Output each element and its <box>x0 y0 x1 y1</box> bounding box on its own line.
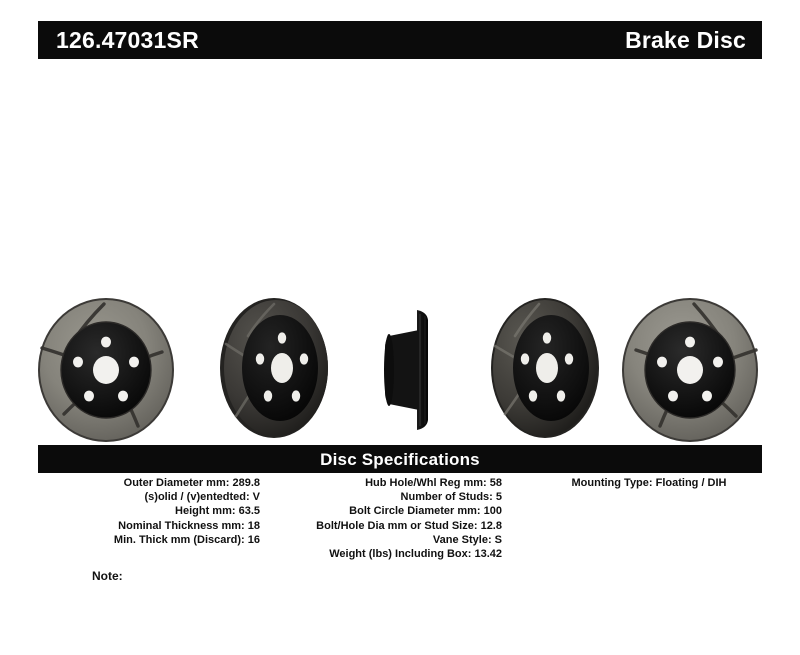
specifications-table: Outer Diameter mm: 289.8 (s)olid / (v)en… <box>38 476 762 576</box>
note-label: Note: <box>92 569 123 583</box>
spec-row: Bolt/Hole Dia mm or Stud Size: 12.8 <box>270 519 502 533</box>
spec-row: Mounting Type: Floating / DIH <box>536 476 762 490</box>
spec-row: Vane Style: S <box>270 533 502 547</box>
spec-row: Height mm: 63.5 <box>38 504 260 518</box>
spec-row: Hub Hole/Whl Reg mm: 58 <box>270 476 502 490</box>
spec-row: (s)olid / (v)entedted: V <box>38 490 260 504</box>
spec-column-left: Outer Diameter mm: 289.8 (s)olid / (v)en… <box>38 476 260 547</box>
spec-row: Bolt Circle Diameter mm: 100 <box>270 504 502 518</box>
spec-row: Min. Thick mm (Discard): 16 <box>38 533 260 547</box>
note-field: Note: <box>92 570 123 582</box>
spec-row: Number of Studs: 5 <box>270 490 502 504</box>
spec-row: Weight (lbs) Including Box: 13.42 <box>270 547 502 561</box>
rotor-angled-right <box>483 296 615 444</box>
product-image-strip <box>30 296 770 444</box>
header-bar: 126.47031SR Brake Disc <box>38 21 762 59</box>
rotor-edge-profile <box>375 296 441 444</box>
spec-row: Nominal Thickness mm: 18 <box>38 519 260 533</box>
disc-specifications-title: Disc Specifications <box>320 451 480 468</box>
rotor-angled-left <box>208 296 340 444</box>
spec-sheet: 126.47031SR Brake Disc <box>0 0 800 655</box>
rotor-face-front-right <box>610 296 770 444</box>
spec-row: Outer Diameter mm: 289.8 <box>38 476 260 490</box>
rotor-face-front-left <box>30 296 190 444</box>
disc-specifications-bar: Disc Specifications <box>38 445 762 473</box>
spec-column-right: Mounting Type: Floating / DIH <box>536 476 762 490</box>
part-number: 126.47031SR <box>56 29 199 52</box>
product-type-label: Brake Disc <box>625 29 746 52</box>
spec-column-middle: Hub Hole/Whl Reg mm: 58 Number of Studs:… <box>270 476 502 561</box>
